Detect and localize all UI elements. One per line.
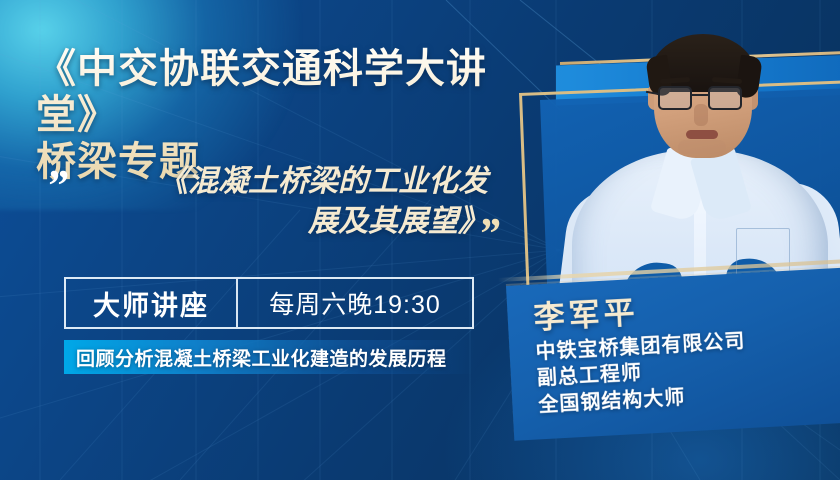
lecture-topic-text: 《混凝土桥梁的工业化发 展及其展望》 [88,162,488,242]
lecture-schedule: 每周六晚19:30 [238,279,472,327]
lecture-info-box: 大师讲座 每周六晚19:30 [64,277,474,329]
speaker-info-content: 李军平 中铁宝桥集团有限公司 副总工程师 全国钢结构大师 [506,267,840,441]
quote-mark-open: ” [46,164,68,208]
subtitle-bar: 回顾分析混凝土桥梁工业化建造的发展历程 [64,340,476,374]
lecture-label: 大师讲座 [66,279,236,327]
glasses-icon-left-lens [658,86,692,110]
subtitle-text: 回顾分析混凝土桥梁工业化建造的发展历程 [64,344,447,371]
lecture-topic-quote: ” 《混凝土桥梁的工业化发 展及其展望》 ” [46,162,516,272]
portrait-chin [678,140,726,154]
glasses-icon-right-lens [708,86,742,110]
quote-mark-close: ” [478,212,500,256]
promo-poster: 《中交协联交通科学大讲堂》 桥梁专题 ” 《混凝土桥梁的工业化发 展及其展望》 … [0,0,840,480]
portrait-nose [694,104,708,126]
glasses-icon-bridge [692,94,708,96]
portrait-mouth [686,130,718,139]
